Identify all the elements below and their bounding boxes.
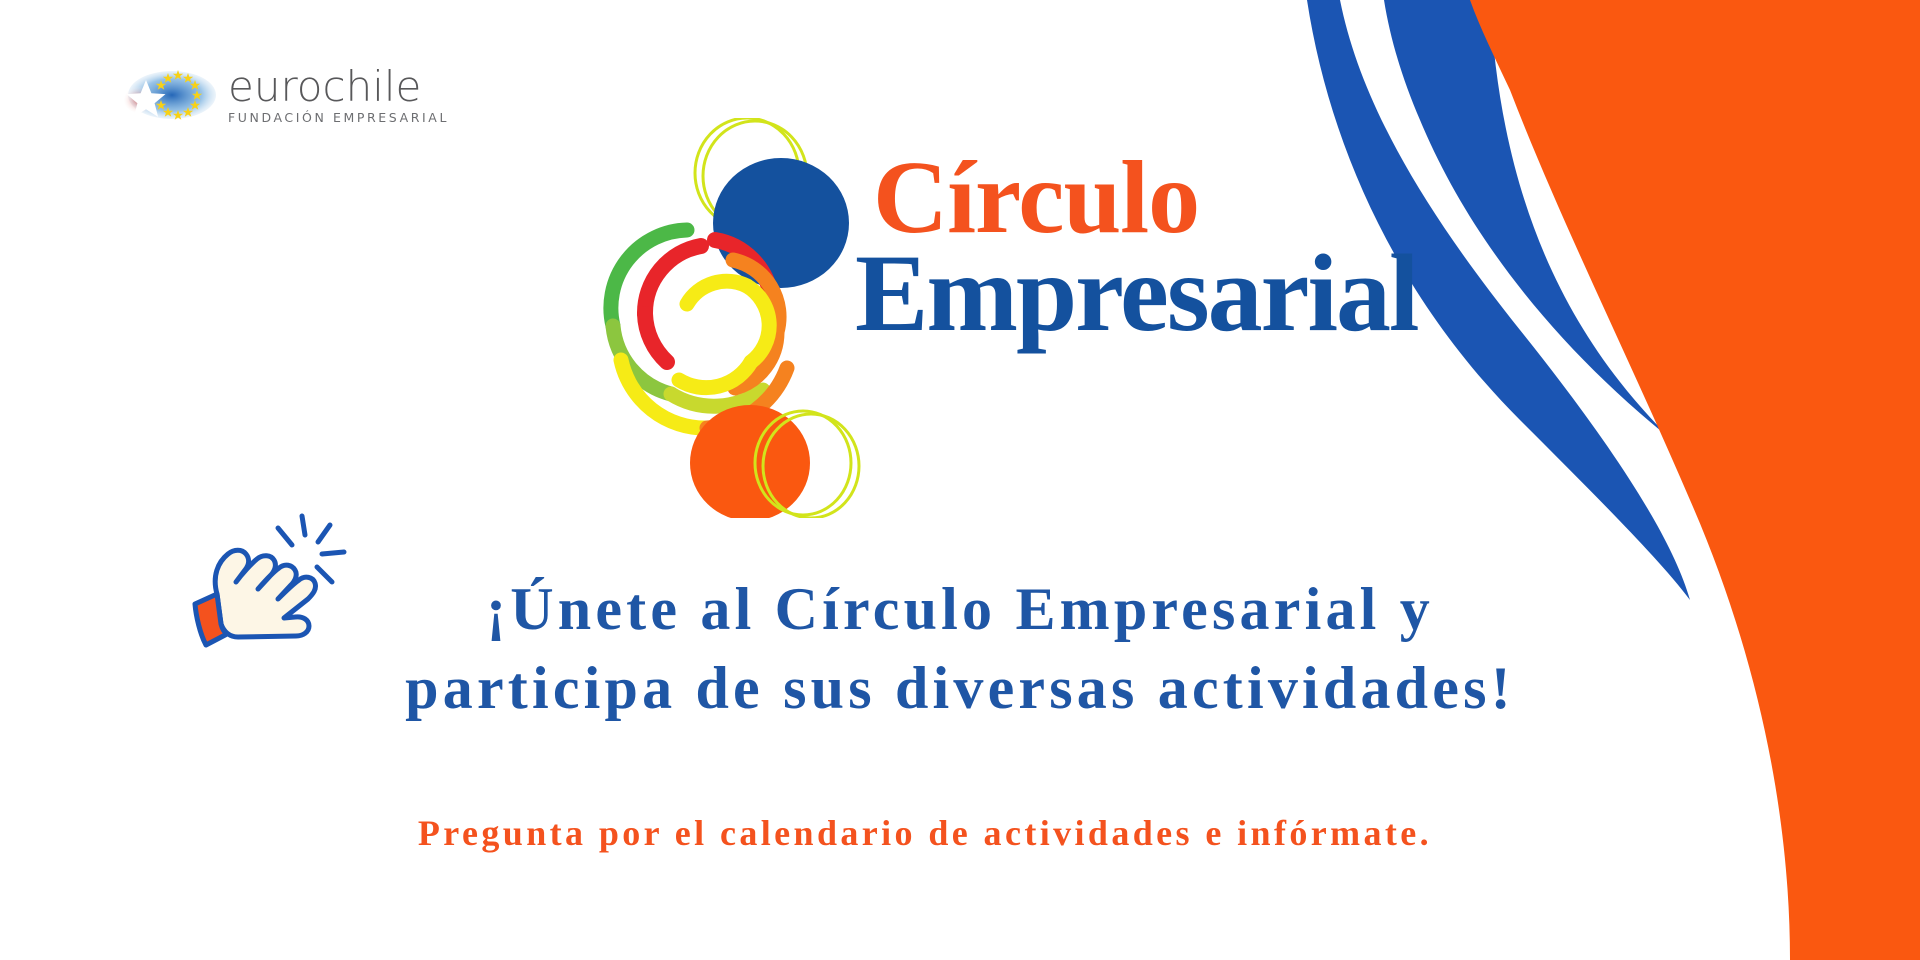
eurochile-wordblock: eurochile FUNDACIÓN EMPRESARIAL <box>228 65 449 125</box>
eurochile-name: eurochile <box>228 67 449 107</box>
circulo-wordmark: Círculo Empresarial <box>855 146 1425 348</box>
blue-circle <box>713 158 849 288</box>
headline: ¡Únete al Círculo Empresarial y particip… <box>300 570 1620 728</box>
headline-line-2: participa de sus diversas actividades! <box>300 649 1620 728</box>
promo-banner: eurochile FUNDACIÓN EMPRESARIAL <box>0 0 1920 960</box>
subtitle: Pregunta por el calendario de actividade… <box>250 812 1600 855</box>
headline-line-1: ¡Únete al Círculo Empresarial y <box>300 570 1620 649</box>
orange-circle <box>690 405 810 518</box>
circulo-word-two: Empresarial <box>855 238 1425 348</box>
eurochile-logo: eurochile FUNDACIÓN EMPRESARIAL <box>122 62 449 128</box>
eu-flag-star-icon <box>122 62 218 128</box>
circulo-empresarial-logo: Círculo Empresarial <box>575 118 1420 518</box>
eurochile-tagline: FUNDACIÓN EMPRESARIAL <box>228 110 449 125</box>
